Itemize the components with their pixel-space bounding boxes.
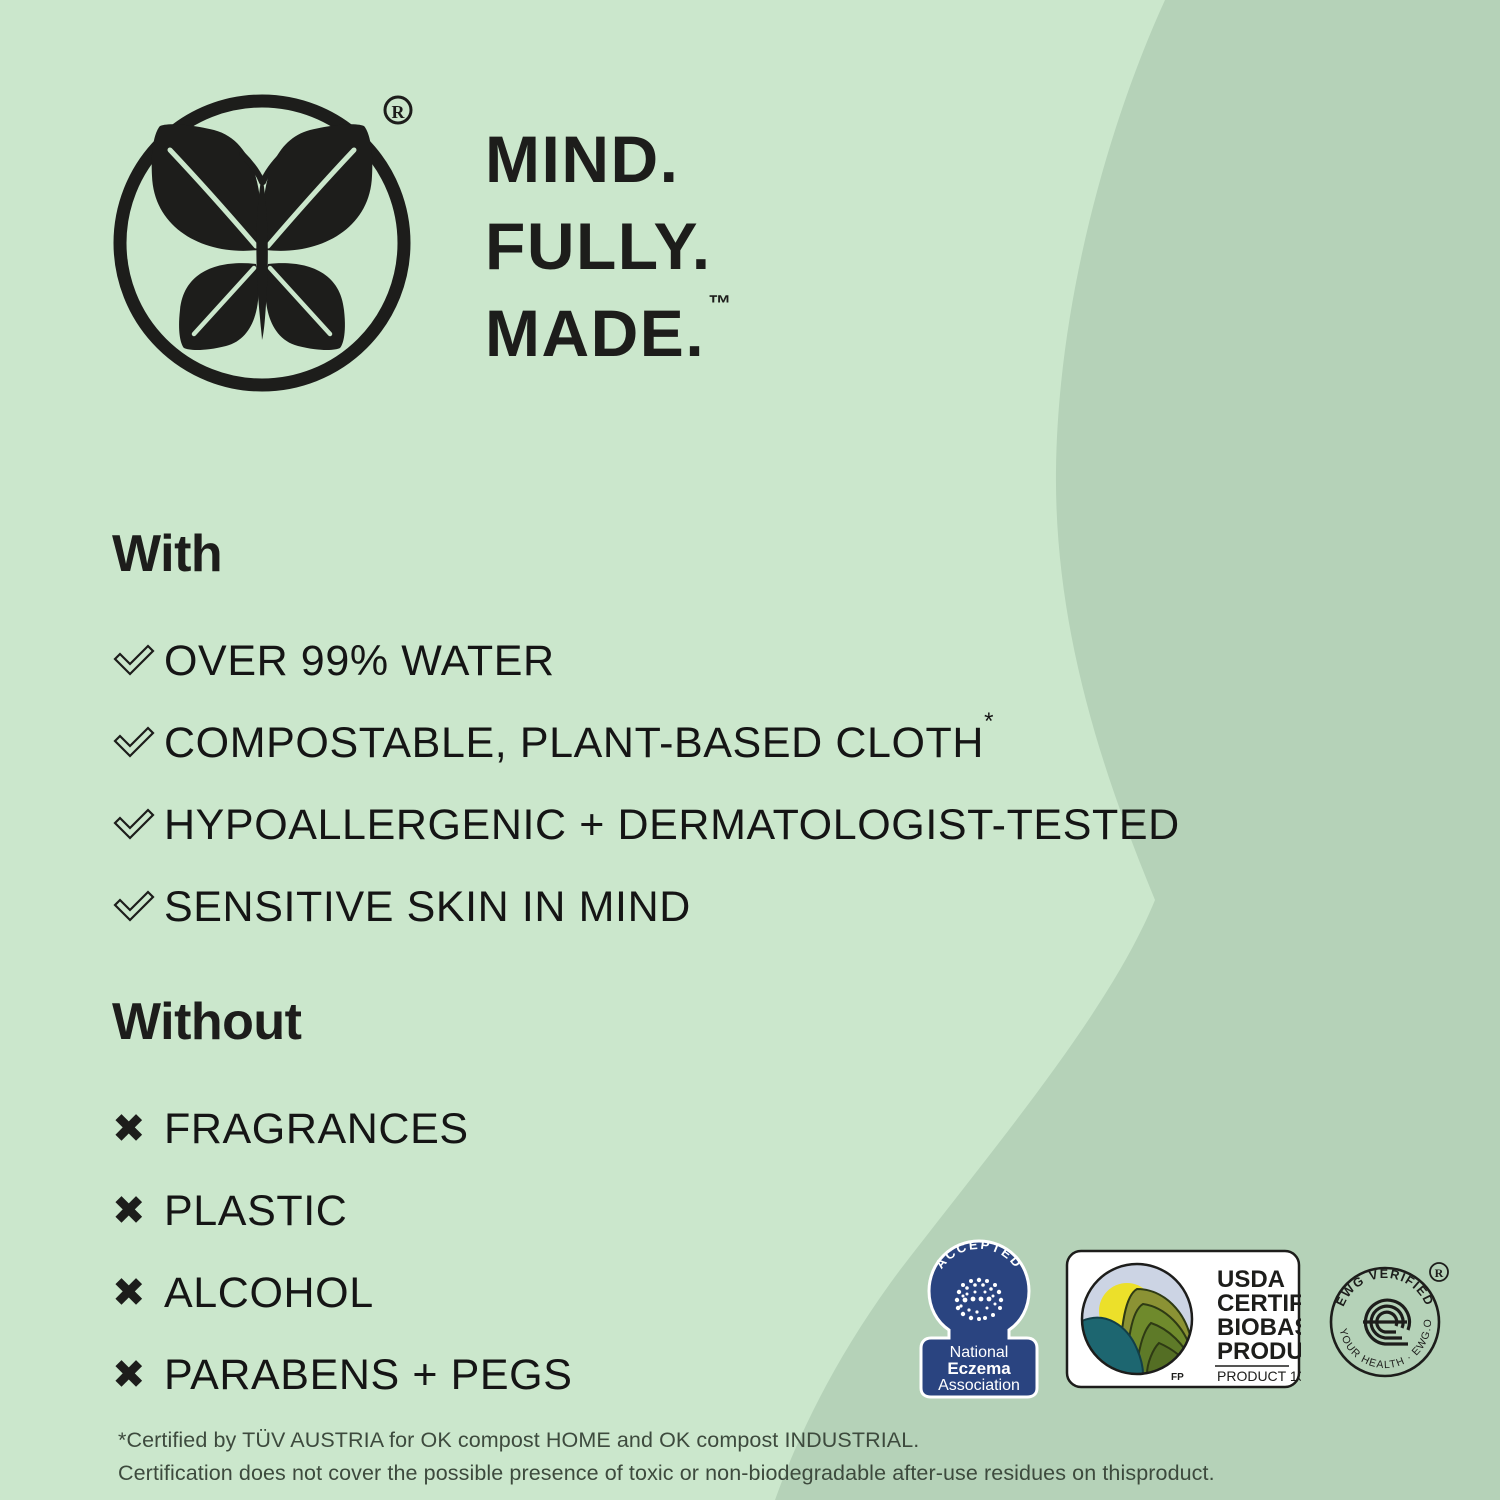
x-mark-icon: ✖ bbox=[112, 1355, 164, 1395]
usda-line-1: USDA bbox=[1217, 1266, 1285, 1293]
trademark-mark: ™ bbox=[708, 290, 731, 316]
usda-line-3: BIOBASED bbox=[1217, 1314, 1301, 1341]
list-item: OVER 99% WATER bbox=[112, 620, 1180, 702]
national-eczema-association-badge: ACCEPTED bbox=[915, 1238, 1043, 1405]
with-section: With OVER 99% WATER COMPOSTABLE, PLANT-B… bbox=[112, 528, 1180, 948]
wordmark-line-2: FULLY. bbox=[485, 203, 728, 290]
ewg-top-text: EWG VERIFIED bbox=[1333, 1267, 1436, 1308]
without-item-label-3: ALCOHOL bbox=[164, 1272, 374, 1315]
check-outline-icon bbox=[112, 887, 164, 927]
usda-line-2: CERTIFIED bbox=[1217, 1290, 1301, 1317]
list-item: ✖ ALCOHOL bbox=[112, 1252, 573, 1334]
ewg-verified-icon: EWG VERIFIED FOR YOUR HEALTH · EWG.ORG R bbox=[1323, 1254, 1453, 1384]
with-section-title: With bbox=[112, 528, 1180, 580]
usda-line-4: PRODUCT bbox=[1217, 1338, 1301, 1365]
with-item-label-1: OVER 99% WATER bbox=[164, 640, 555, 683]
butterfly-in-circle-icon: R bbox=[110, 78, 430, 408]
without-item-label-4: PARABENS + PEGS bbox=[164, 1354, 573, 1397]
list-item: ✖ FRAGRANCES bbox=[112, 1088, 573, 1170]
with-item-label-3: HYPOALLERGENIC + DERMATOLOGIST-TESTED bbox=[164, 804, 1180, 847]
footnote-line-1: *Certified by TÜV AUSTRIA for OK compost… bbox=[118, 1424, 1418, 1457]
usda-corner-mark: FP bbox=[1171, 1372, 1184, 1383]
eczema-line-2: Eczema bbox=[947, 1359, 1011, 1378]
x-mark-icon: ✖ bbox=[112, 1273, 164, 1313]
wordmark-line-3: MADE.™ bbox=[485, 290, 728, 377]
x-mark-glyph: ✖ bbox=[112, 1355, 146, 1395]
brand-wordmark: MIND. FULLY. MADE.™ bbox=[485, 116, 728, 377]
usda-certified-biobased-badge: USDA CERTIFIED BIOBASED PRODUCT PRODUCT … bbox=[1065, 1249, 1301, 1394]
list-item: ✖ PARABENS + PEGS bbox=[112, 1334, 573, 1416]
check-outline-icon bbox=[112, 723, 164, 763]
check-outline-icon bbox=[112, 805, 164, 845]
without-section-title: Without bbox=[112, 996, 573, 1048]
without-section: Without ✖ FRAGRANCES ✖ PLASTIC ✖ ALCOHOL bbox=[112, 996, 573, 1416]
list-item: HYPOALLERGENIC + DERMATOLOGIST-TESTED bbox=[112, 784, 1180, 866]
ewg-verified-badge: EWG VERIFIED FOR YOUR HEALTH · EWG.ORG R bbox=[1323, 1254, 1453, 1389]
x-mark-glyph: ✖ bbox=[112, 1273, 146, 1313]
without-item-label-1: FRAGRANCES bbox=[164, 1108, 469, 1151]
x-mark-glyph: ✖ bbox=[112, 1109, 146, 1149]
x-mark-icon: ✖ bbox=[112, 1191, 164, 1231]
wordmark-line-1: MIND. bbox=[485, 116, 728, 203]
with-item-label-2: COMPOSTABLE, PLANT-BASED CLOTH bbox=[164, 719, 984, 767]
certification-badges: ACCEPTED bbox=[915, 1238, 1453, 1405]
svg-text:R: R bbox=[392, 102, 406, 122]
footnote: *Certified by TÜV AUSTRIA for OK compost… bbox=[118, 1424, 1418, 1489]
without-item-label-2: PLASTIC bbox=[164, 1190, 347, 1233]
check-outline-icon bbox=[112, 641, 164, 681]
list-item: SENSITIVE SKIN IN MIND bbox=[112, 866, 1180, 948]
usda-sub-line: PRODUCT 100% bbox=[1217, 1368, 1301, 1384]
list-item: COMPOSTABLE, PLANT-BASED CLOTH* bbox=[112, 702, 1180, 784]
wordmark-line-3-text: MADE. bbox=[485, 296, 705, 370]
x-mark-glyph: ✖ bbox=[112, 1191, 146, 1231]
list-item: ✖ PLASTIC bbox=[112, 1170, 573, 1252]
without-list: ✖ FRAGRANCES ✖ PLASTIC ✖ ALCOHOL ✖ bbox=[112, 1088, 573, 1416]
footnote-marker: * bbox=[984, 708, 994, 735]
eczema-seal-icon: ACCEPTED bbox=[915, 1238, 1043, 1400]
brand-lockup: R MIND. FULLY. MADE.™ bbox=[110, 78, 728, 408]
with-list: OVER 99% WATER COMPOSTABLE, PLANT-BASED … bbox=[112, 620, 1180, 948]
ewg-registered-mark: R bbox=[1435, 1266, 1444, 1280]
x-mark-icon: ✖ bbox=[112, 1109, 164, 1149]
with-item-label-4: SENSITIVE SKIN IN MIND bbox=[164, 886, 691, 929]
footnote-line-2: Certification does not cover the possibl… bbox=[118, 1457, 1418, 1490]
eczema-line-3: Association bbox=[938, 1377, 1020, 1394]
usda-biobased-icon: USDA CERTIFIED BIOBASED PRODUCT PRODUCT … bbox=[1065, 1249, 1301, 1389]
marketing-panel: R MIND. FULLY. MADE.™ With OVER 99% WATE… bbox=[0, 0, 1500, 1500]
